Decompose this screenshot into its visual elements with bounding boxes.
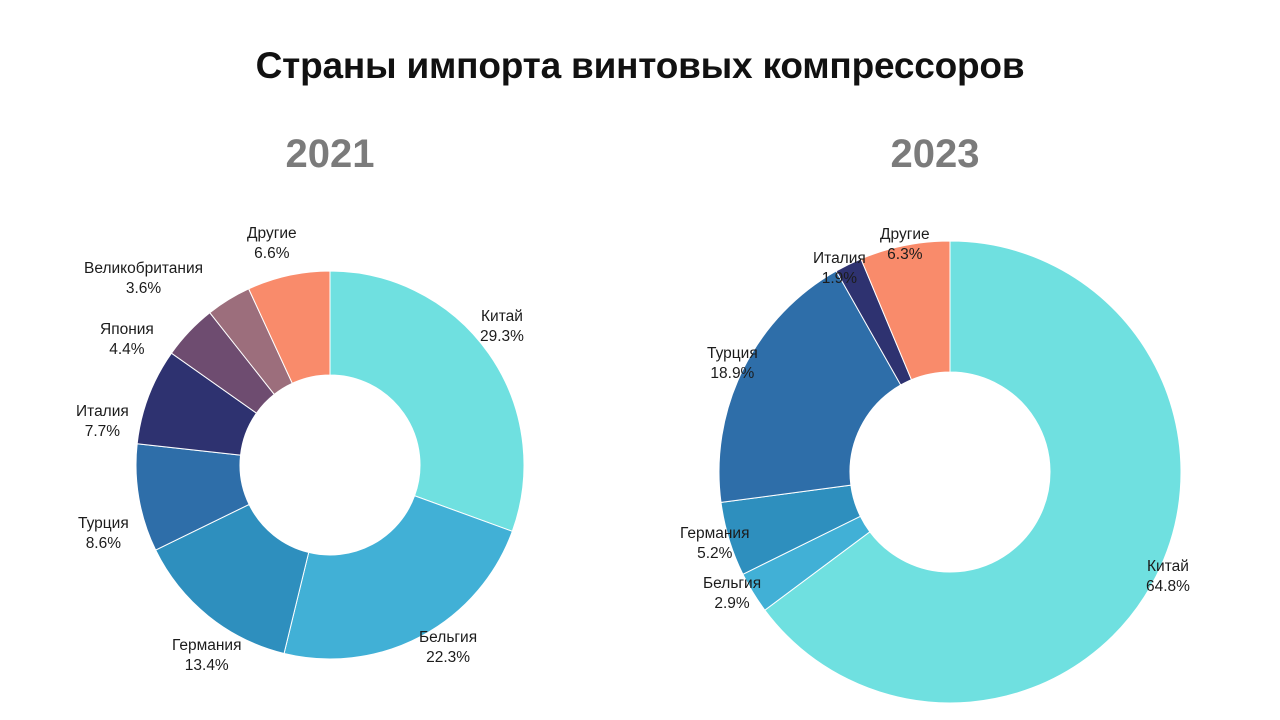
- slice-label-name: Германия: [680, 525, 750, 542]
- slice-label-pct: 18.9%: [707, 364, 758, 384]
- slice-label-pct: 2.9%: [703, 594, 761, 614]
- slice-label-germany-2021: Германия 13.4%: [172, 636, 242, 676]
- slice-label-other-2021: Другие 6.6%: [247, 224, 297, 264]
- slice-label-name: Другие: [247, 225, 297, 242]
- slice-label-pct: 6.6%: [247, 244, 297, 264]
- donut-chart-2023: [718, 240, 1182, 704]
- slice-label-name: Бельгия: [703, 575, 761, 592]
- slice-label-name: Бельгия: [419, 629, 477, 646]
- slice-label-name: Китай: [481, 308, 523, 325]
- slice-label-china-2021: Китай 29.3%: [480, 307, 524, 347]
- slice-label-name: Китай: [1147, 558, 1189, 575]
- slice-label-pct: 3.6%: [84, 279, 203, 299]
- slice-label-pct: 64.8%: [1146, 577, 1190, 597]
- slice-label-name: Другие: [880, 226, 930, 243]
- slice-label-turkey-2021: Турция 8.6%: [78, 514, 129, 554]
- slice-label-name: Германия: [172, 637, 242, 654]
- slice-label-germany-2023: Германия 5.2%: [680, 524, 750, 564]
- slice-label-japan-2021: Япония 4.4%: [100, 320, 154, 360]
- panel-heading-2021: 2021: [180, 132, 480, 177]
- slice-label-name: Великобритания: [84, 260, 203, 277]
- slice-label-other-2023: Другие 6.3%: [880, 225, 930, 265]
- slice-label-name: Япония: [100, 321, 154, 338]
- slice-label-name: Турция: [707, 345, 758, 362]
- slice-label-italy-2023: Италия 1.9%: [813, 249, 866, 289]
- slice-label-pct: 6.3%: [880, 245, 930, 265]
- slice-label-pct: 8.6%: [78, 534, 129, 554]
- slice-label-pct: 1.9%: [813, 269, 866, 289]
- slice-label-name: Италия: [76, 403, 129, 420]
- donut-svg-2023: [718, 240, 1182, 704]
- slice-label-turkey-2023: Турция 18.9%: [707, 344, 758, 384]
- slice-label-pct: 4.4%: [100, 340, 154, 360]
- slice-label-name: Италия: [813, 250, 866, 267]
- slice-label-pct: 29.3%: [480, 327, 524, 347]
- slice-label-pct: 5.2%: [680, 544, 750, 564]
- slice-label-italy-2021: Италия 7.7%: [76, 402, 129, 442]
- pie-slice: [284, 496, 512, 659]
- slice-label-name: Турция: [78, 515, 129, 532]
- slice-label-belgium-2021: Бельгия 22.3%: [419, 628, 477, 668]
- slice-label-pct: 7.7%: [76, 422, 129, 442]
- slice-label-uk-2021: Великобритания 3.6%: [84, 259, 203, 299]
- page-title: Страны импорта винтовых компрессоров: [0, 45, 1280, 87]
- slice-label-china-2023: Китай 64.8%: [1146, 557, 1190, 597]
- donut-chart-2021: [135, 270, 525, 660]
- donut-svg-2021: [135, 270, 525, 660]
- panel-heading-2023: 2023: [785, 132, 1085, 177]
- slice-label-pct: 13.4%: [172, 656, 242, 676]
- slice-label-pct: 22.3%: [419, 648, 477, 668]
- slice-label-belgium-2023: Бельгия 2.9%: [703, 574, 761, 614]
- chart-page: Страны импорта винтовых компрессоров 202…: [0, 0, 1280, 720]
